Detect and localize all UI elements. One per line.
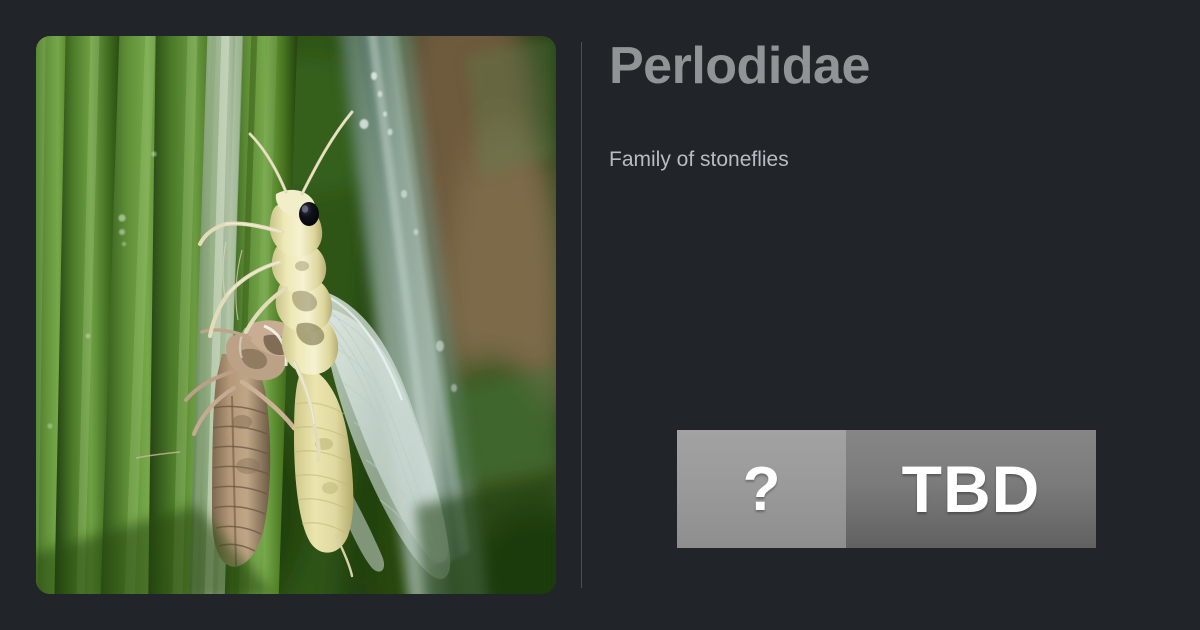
- vertical-divider: [581, 42, 582, 588]
- badge-label: ?: [677, 430, 846, 548]
- photo-canvas: [36, 36, 556, 594]
- badge-value: TBD: [846, 430, 1096, 548]
- page-subtitle: Family of stoneflies: [609, 146, 1149, 173]
- article-image[interactable]: [36, 36, 556, 594]
- status-badge[interactable]: ? TBD: [677, 430, 1096, 548]
- article-info: Perlodidae Family of stoneflies: [609, 36, 1149, 174]
- stonefly-photo: [36, 36, 556, 594]
- preview-card: Perlodidae Family of stoneflies ? TBD: [0, 0, 1200, 630]
- page-title: Perlodidae: [609, 36, 1149, 97]
- compound-eye: [299, 202, 319, 226]
